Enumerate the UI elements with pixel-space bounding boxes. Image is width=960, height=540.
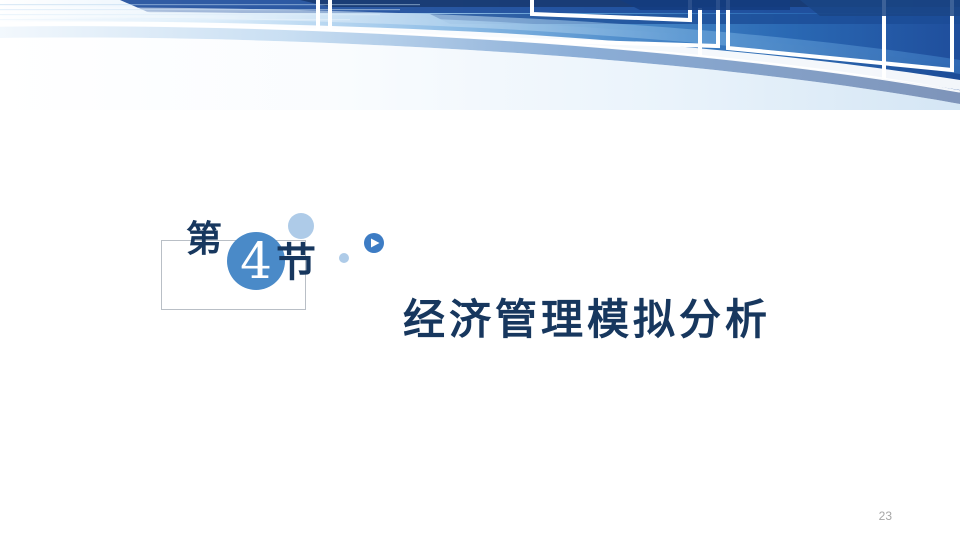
page-number: 23 — [879, 510, 892, 522]
section-marker: 第 4 节 — [150, 195, 400, 325]
section-prefix-label: 第 — [186, 221, 222, 257]
decor-bubble-small — [339, 253, 349, 263]
slide-canvas: 第 4 节 经济管理模拟分析 23 — [0, 0, 960, 540]
page-title: 经济管理模拟分析 — [403, 296, 771, 344]
banner-graphic — [0, 0, 960, 110]
decorative-header-banner — [0, 0, 960, 110]
section-suffix-label: 节 — [276, 243, 316, 283]
decor-bubble-large — [288, 213, 314, 239]
